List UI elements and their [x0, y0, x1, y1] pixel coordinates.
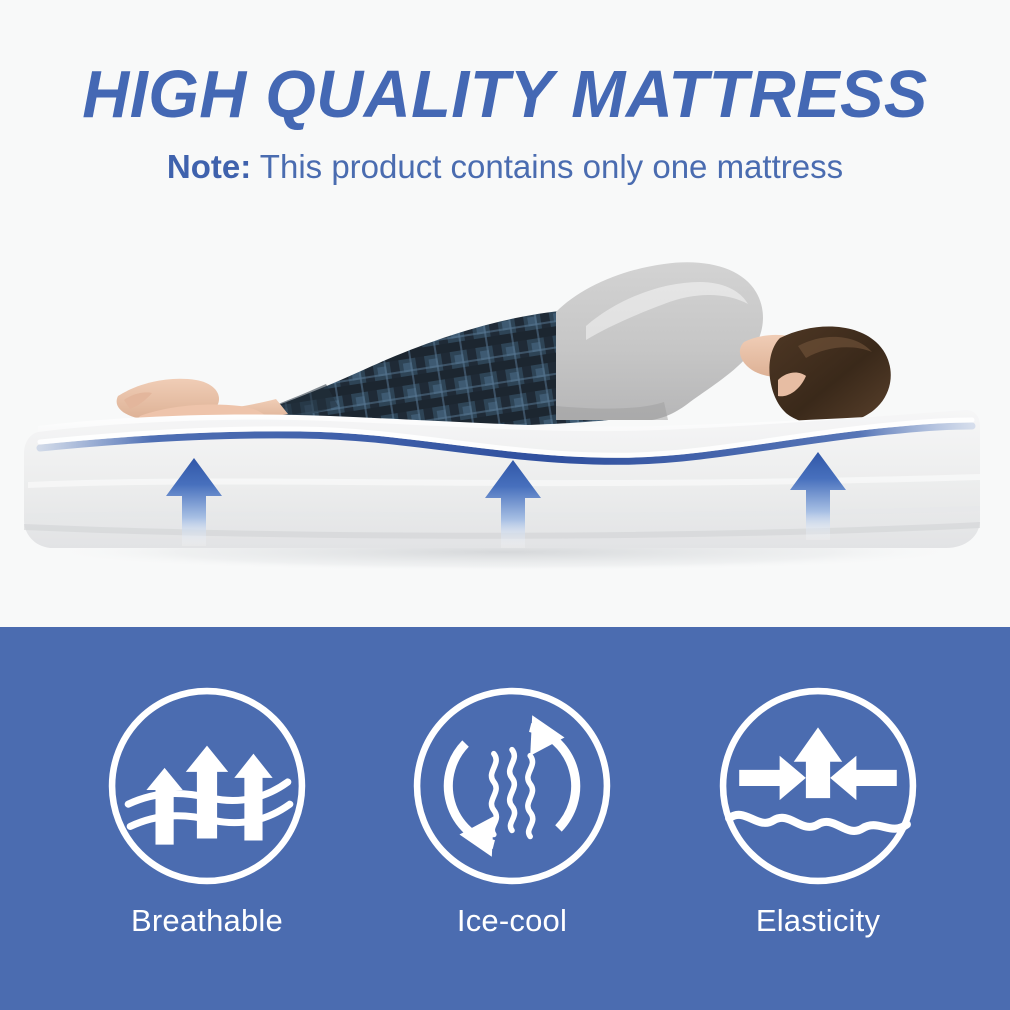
feature-label: Elasticity — [688, 903, 948, 939]
feature-label: Ice-cool — [382, 903, 642, 939]
feature-breathable[interactable]: Breathable — [77, 685, 337, 939]
product-infographic: HIGH QUALITY MATTRESS Note: This product… — [0, 0, 1010, 1010]
note-label: Note: — [167, 148, 251, 185]
feature-elasticity[interactable]: Elasticity — [688, 685, 948, 939]
hero-section: HIGH QUALITY MATTRESS Note: This product… — [0, 0, 1010, 627]
mattress — [24, 410, 980, 548]
sleeping-person — [117, 262, 891, 437]
elasticity-rebound-icon — [717, 685, 919, 887]
feature-ice-cool[interactable]: Ice-cool — [382, 685, 642, 939]
feature-label: Breathable — [77, 903, 337, 939]
gray-shirt — [556, 262, 763, 420]
page-title: HIGH QUALITY MATTRESS — [15, 56, 995, 133]
note-line: Note: This product contains only one mat… — [0, 148, 1010, 186]
ice-cool-circulation-icon — [411, 685, 613, 887]
breathable-airflow-icon — [106, 685, 308, 887]
mattress-illustration — [0, 230, 1010, 627]
note-text: This product contains only one mattress — [251, 148, 843, 185]
feature-panel: Breathable Ice-cool — [0, 627, 1010, 1010]
